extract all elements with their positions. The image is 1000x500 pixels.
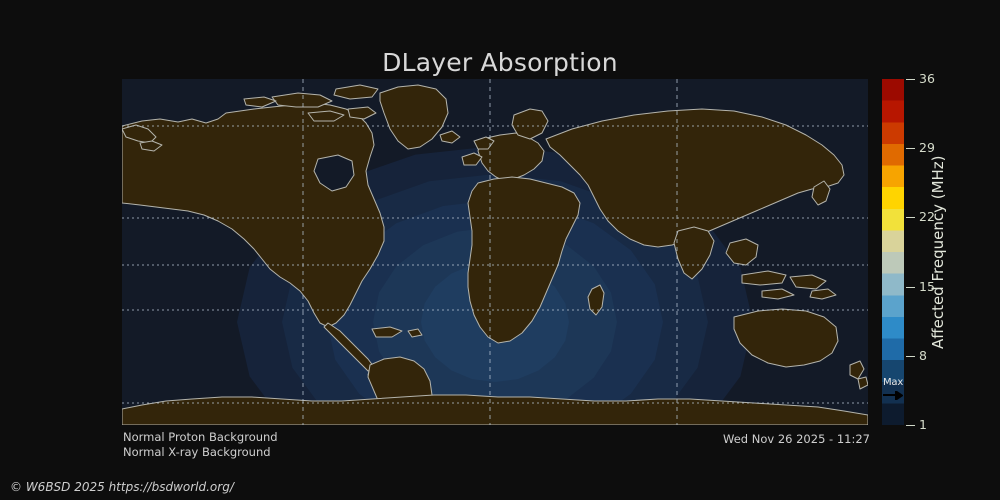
colorbar-max-label: Max xyxy=(883,378,903,388)
page-title: DLayer Absorption xyxy=(0,48,1000,77)
colorbar-tick xyxy=(906,287,915,288)
map-canvas xyxy=(122,79,868,425)
colorbar[interactable]: Max xyxy=(882,79,904,425)
colorbar-tick xyxy=(906,425,915,426)
colorbar-tick-label: 1 xyxy=(919,417,927,432)
proton-background-status: Normal Proton Background xyxy=(123,430,278,444)
world-map[interactable] xyxy=(122,79,868,425)
colorbar-gradient xyxy=(882,79,904,425)
xray-background-status: Normal X-ray Background xyxy=(123,445,271,459)
colorbar-tick-label: 8 xyxy=(919,348,927,363)
timestamp: Wed Nov 26 2025 - 11:27 xyxy=(723,432,870,446)
dlayer-absorption-screen: DLayer Absorption xyxy=(0,0,1000,500)
colorbar-tick xyxy=(906,217,915,218)
colorbar-tick xyxy=(906,148,915,149)
arrow-right-icon xyxy=(883,391,903,400)
copyright-notice: © W6BSD 2025 https://bsdworld.org/ xyxy=(10,480,234,494)
colorbar-tick xyxy=(906,79,915,80)
colorbar-axis-title: Affected Frequency (MHz) xyxy=(928,79,948,425)
colorbar-max-marker: Max xyxy=(882,379,904,411)
colorbar-tick xyxy=(906,356,915,357)
